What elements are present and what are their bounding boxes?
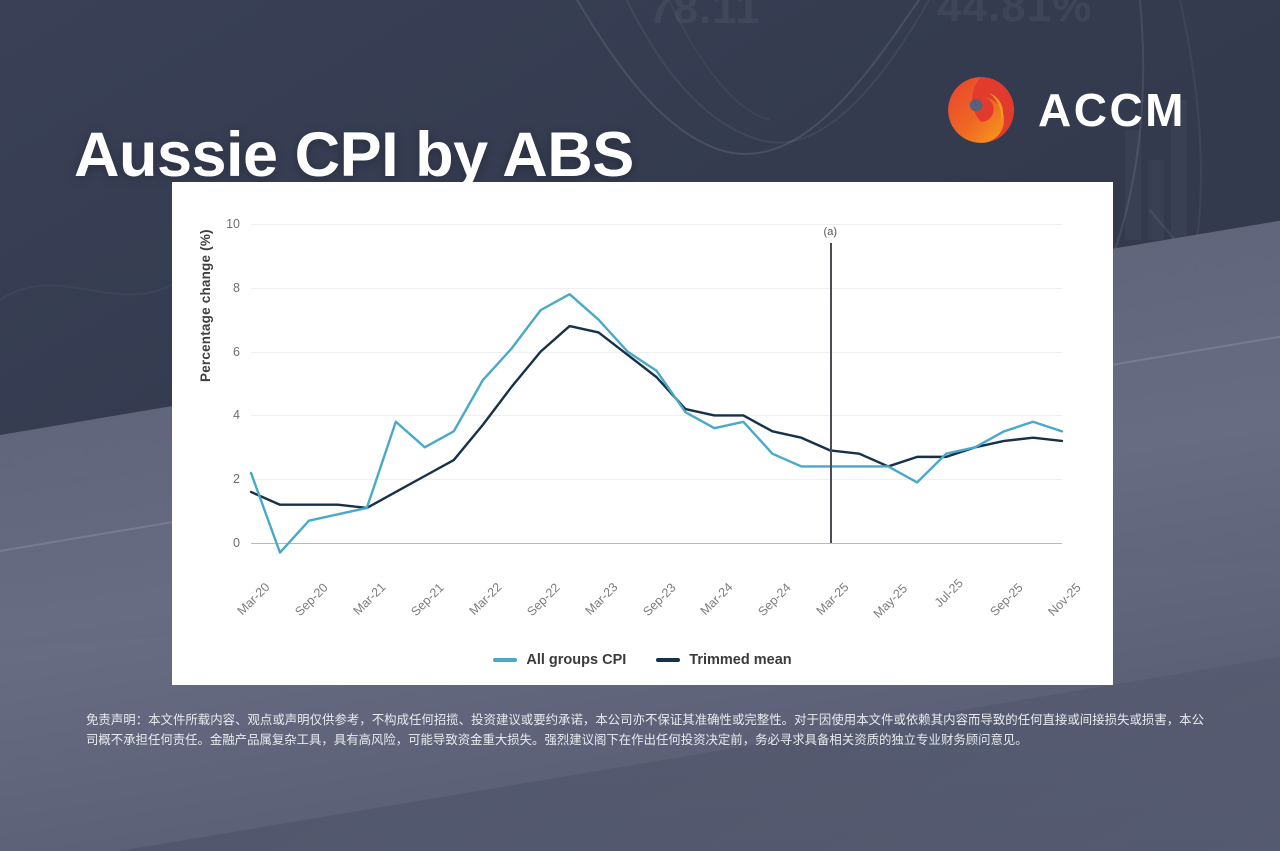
x-axis-tick-label: Sep-24 bbox=[784, 552, 822, 590]
x-axis-tick-label: Mar-23 bbox=[610, 552, 648, 590]
ghost-bar bbox=[1148, 160, 1164, 240]
x-axis-tick-label: Mar-22 bbox=[494, 552, 532, 590]
x-axis-tick-label: Mar-24 bbox=[726, 552, 764, 590]
brand-logo: ACCM bbox=[946, 75, 1186, 145]
chart-gridline: 0 bbox=[251, 543, 1062, 544]
chart-legend: All groups CPITrimmed mean bbox=[172, 652, 1113, 668]
y-axis-tick-label: 2 bbox=[233, 472, 240, 486]
x-axis-tick-label: Sep-21 bbox=[437, 552, 475, 590]
y-axis-tick-label: 6 bbox=[233, 345, 240, 359]
legend-item[interactable]: Trimmed mean bbox=[656, 652, 791, 668]
y-axis-tick-label: 10 bbox=[226, 217, 240, 231]
x-axis-tick-label: Jul-25 bbox=[956, 552, 990, 586]
y-axis-title: Percentage change (%) bbox=[198, 229, 213, 382]
slide-canvas: 78.11 44.81% 25.417 Aussie CPI by ABS bbox=[0, 0, 1280, 851]
x-axis-tick-label: Mar-25 bbox=[842, 552, 880, 590]
y-axis-tick-label: 8 bbox=[233, 281, 240, 295]
x-axis-tick-label: May-25 bbox=[900, 552, 939, 591]
x-axis-tick-label: Sep-23 bbox=[668, 552, 706, 590]
legend-label: Trimmed mean bbox=[689, 652, 791, 668]
annotation-vertical-line bbox=[830, 243, 832, 543]
x-axis-tick-label: Mar-21 bbox=[378, 552, 416, 590]
x-axis-tick-label: Mar-20 bbox=[263, 552, 301, 590]
legend-swatch-icon bbox=[656, 658, 680, 661]
y-axis-tick-label: 0 bbox=[233, 536, 240, 550]
x-axis-tick-label: Sep-20 bbox=[321, 552, 359, 590]
accm-swirl-icon bbox=[946, 75, 1016, 145]
background-ghost-number: 44.81% bbox=[937, 0, 1092, 32]
x-axis-tick-label: Nov-25 bbox=[1074, 552, 1112, 590]
legend-label: All groups CPI bbox=[526, 652, 626, 668]
ghost-bar bbox=[1125, 130, 1141, 240]
chart-series-lines bbox=[251, 224, 1062, 543]
y-axis-tick-label: 4 bbox=[233, 408, 240, 422]
annotation-label: (a) bbox=[824, 226, 837, 238]
chart-plot-area: 0246810 Mar-20Sep-20Mar-21Sep-21Mar-22Se… bbox=[251, 224, 1062, 543]
background-ghost-number: 78.11 bbox=[648, 0, 761, 34]
series-line bbox=[251, 294, 1062, 552]
legend-swatch-icon bbox=[493, 658, 517, 661]
legend-item[interactable]: All groups CPI bbox=[493, 652, 626, 668]
series-line bbox=[251, 326, 1062, 508]
chart-panel: Percentage change (%) 0246810 Mar-20Sep-… bbox=[172, 182, 1113, 685]
page-title: Aussie CPI by ABS bbox=[74, 124, 634, 187]
brand-wordmark: ACCM bbox=[1038, 87, 1186, 133]
disclaimer-text: 免责声明：本文件所载内容、观点或声明仅供参考，不构成任何招揽、投资建议或要约承诺… bbox=[86, 710, 1204, 750]
x-axis-tick-label: Sep-25 bbox=[1016, 552, 1054, 590]
x-axis-tick-label: Sep-22 bbox=[552, 552, 590, 590]
